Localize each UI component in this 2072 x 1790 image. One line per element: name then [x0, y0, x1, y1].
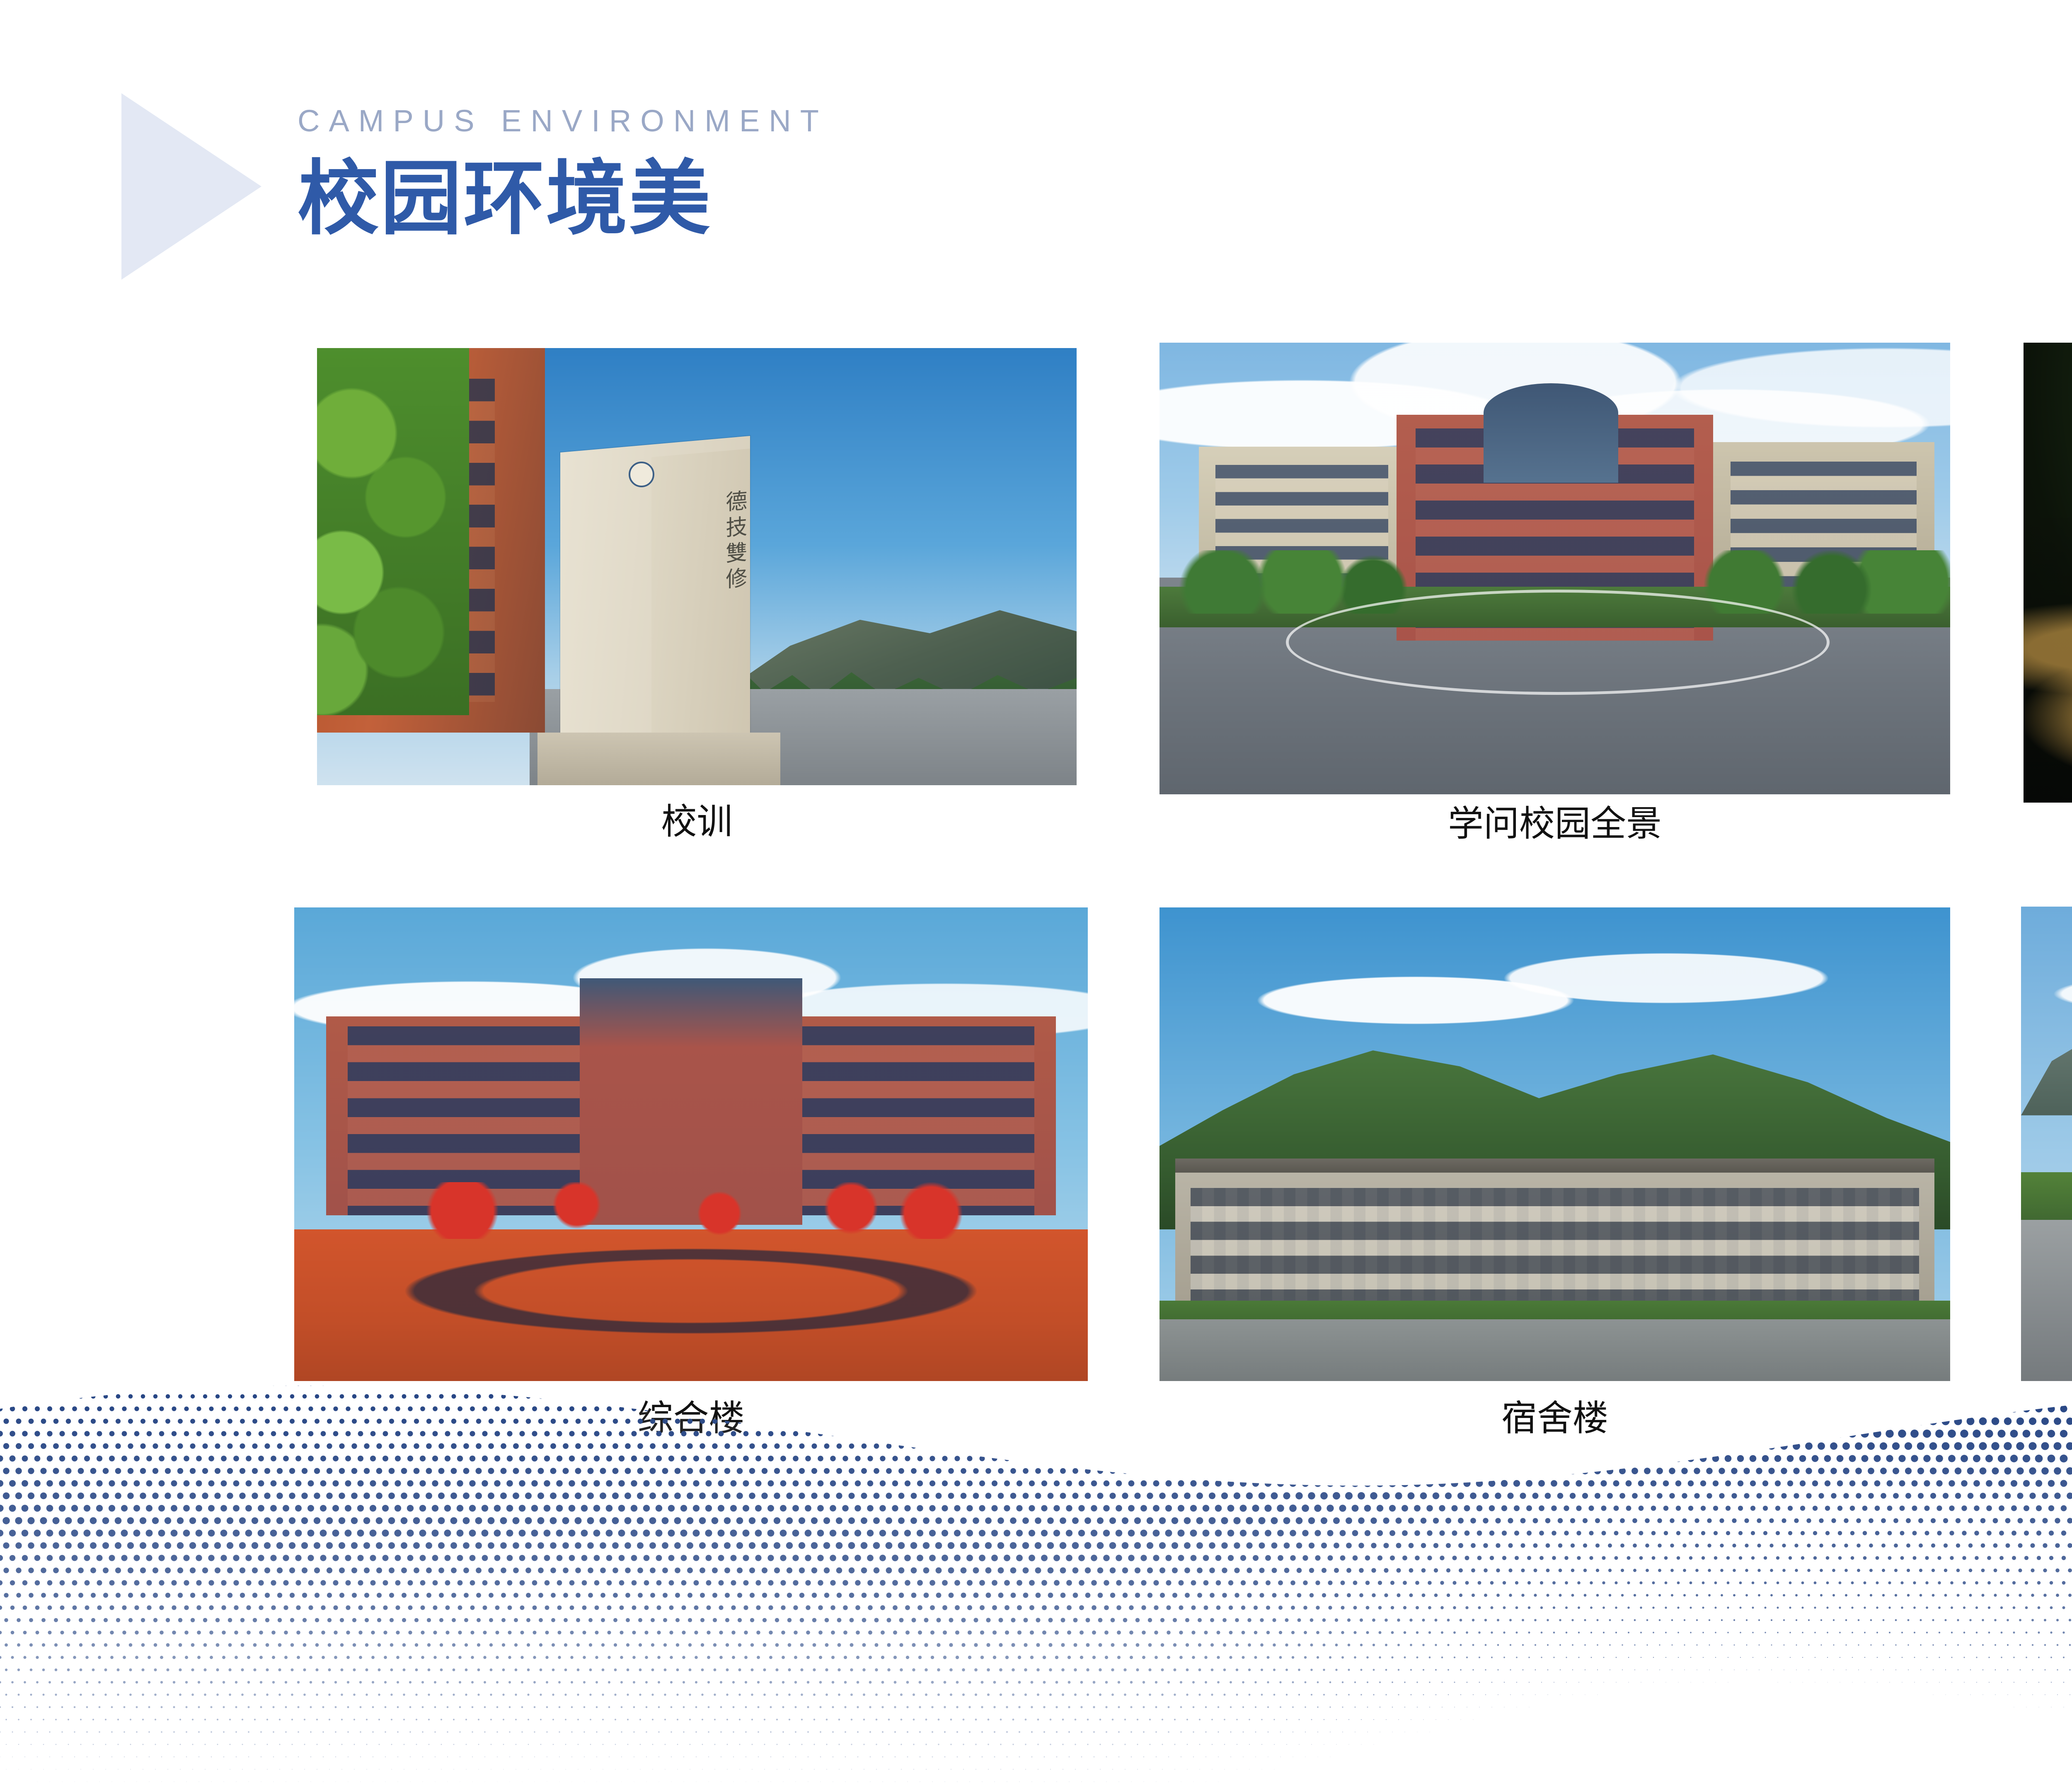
gallery-caption-5: 宿舍楼	[1159, 1401, 1950, 1436]
photo-art-comprehensive-building	[294, 907, 1088, 1381]
triangle-decoration-icon	[121, 93, 261, 280]
gallery-caption-3: 三度书院夜景	[2024, 818, 2072, 854]
gallery-caption-2: 学问校园全景	[1159, 806, 1950, 842]
gallery-caption-1: 校训	[317, 804, 1077, 839]
page-title: 校园环境美	[298, 156, 828, 242]
photo-art-campus-panorama	[1159, 343, 1950, 794]
motto-text: 德技雙修	[568, 489, 750, 740]
gallery-photo-1[interactable]: 德技雙修	[317, 348, 1077, 785]
gallery-photo-4[interactable]	[294, 907, 1088, 1381]
photo-art-campus-motto: 德技雙修	[317, 348, 1077, 785]
gallery-caption-6: 图书馆	[2021, 1380, 2072, 1415]
school-seal-icon	[629, 462, 654, 487]
gallery-photo-6[interactable]	[2021, 907, 2072, 1381]
gallery-caption-4: 综合楼	[294, 1401, 1088, 1436]
photo-art-academy-night	[2024, 343, 2072, 803]
gallery-photo-2[interactable]	[1159, 343, 1950, 794]
slide-root: CAMPUS ENVIRONMENT 校园环境美 德技雙修 校训 学问校园全景	[0, 0, 2072, 1790]
gallery-photo-5[interactable]	[1159, 907, 1950, 1381]
gallery-photo-3[interactable]	[2024, 343, 2072, 803]
page-header: CAMPUS ENVIRONMENT 校园环境美	[298, 106, 828, 242]
eyebrow-text: CAMPUS ENVIRONMENT	[298, 106, 828, 136]
photo-art-library	[2021, 907, 2072, 1381]
photo-art-dormitory	[1159, 907, 1950, 1381]
